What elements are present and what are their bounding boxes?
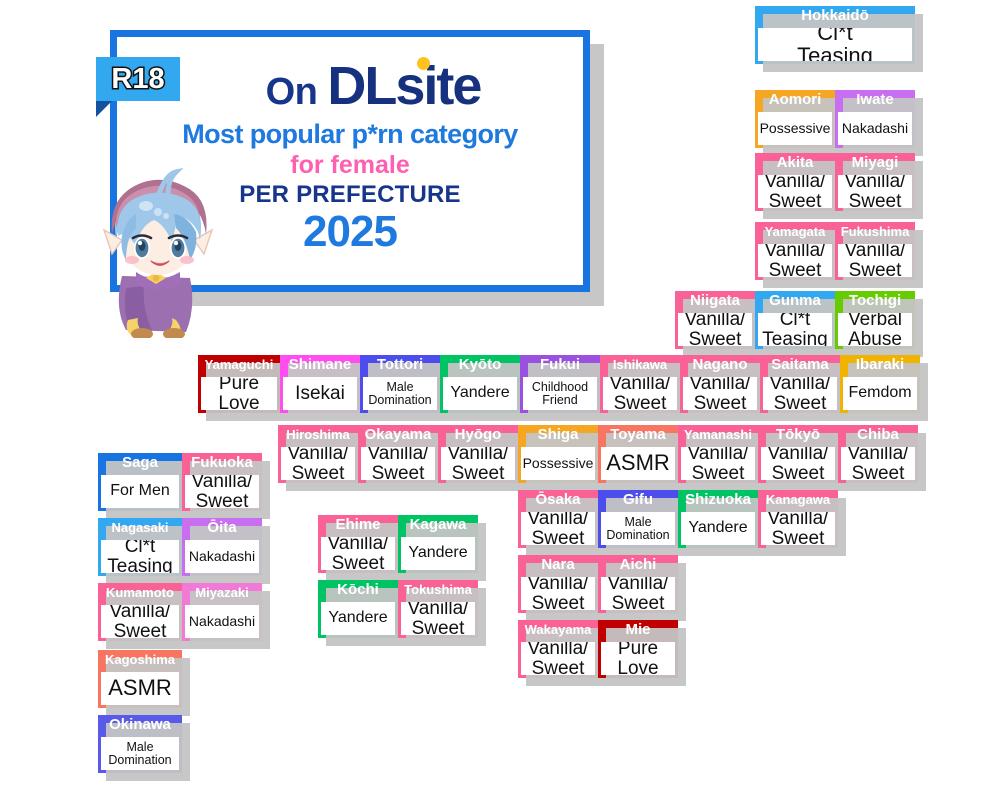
prefecture-name-label: Kagoshima: [98, 650, 182, 669]
prefecture-name-label: Fukuoka: [182, 453, 262, 472]
prefecture-name-label: Saitama: [760, 355, 840, 374]
prefecture-category-value: Cl*tTeasing: [758, 28, 912, 61]
prefecture-category-value: Possessive: [521, 447, 595, 480]
r18-badge: R18: [96, 57, 180, 101]
prefecture-box-aomori[interactable]: AomoriPossessive: [755, 90, 835, 148]
prefecture-name-label: Nara: [518, 555, 598, 574]
prefecture-name-label: Gunma: [755, 291, 835, 310]
prefecture-name-label: Niigata: [675, 291, 755, 310]
prefecture-name-label: Nagano: [680, 355, 760, 374]
prefecture-category-value: Vanilla/Sweet: [441, 447, 515, 480]
prefecture-name-label: Kumamoto: [98, 583, 182, 602]
prefecture-name-label: Tōkyō: [758, 425, 838, 444]
prefecture-name-label: Aomori: [755, 90, 835, 109]
prefecture-category-value: Isekai: [283, 377, 357, 410]
prefecture-name-label: Kanagawa: [758, 490, 838, 509]
prefecture-box-ita[interactable]: ŌitaNakadashi: [182, 518, 262, 576]
prefecture-category-value: Vanilla/Sweet: [758, 175, 832, 208]
prefecture-category-value: Vanilla/Sweet: [603, 377, 677, 410]
prefecture-box-saka[interactable]: ŌsakaVanilla/Sweet: [518, 490, 598, 548]
prefecture-box-nagasaki[interactable]: NagasakiCl*tTeasing: [98, 518, 182, 576]
prefecture-name-label: Fukui: [520, 355, 600, 374]
prefecture-name-label: Kyōto: [440, 355, 520, 374]
prefecture-category-value: Vanilla/Sweet: [681, 447, 755, 480]
prefecture-box-iwate[interactable]: IwateNakadashi: [835, 90, 915, 148]
prefecture-category-value: Vanilla/Sweet: [601, 577, 675, 610]
prefecture-name-label: Yamanashi: [678, 425, 758, 444]
prefecture-box-ibaraki[interactable]: IbarakiFemdom: [840, 355, 920, 413]
prefecture-category-value: Vanilla/Sweet: [361, 447, 435, 480]
prefecture-name-label: Toyama: [598, 425, 678, 444]
prefecture-box-yamanashi[interactable]: YamanashiVanilla/Sweet: [678, 425, 758, 483]
prefecture-box-nara[interactable]: NaraVanilla/Sweet: [518, 555, 598, 613]
prefecture-box-gunma[interactable]: GunmaCl*tTeasing: [755, 291, 835, 349]
prefecture-box-gifu[interactable]: GifuMaleDomination: [598, 490, 678, 548]
prefecture-name-label: Miyagi: [835, 153, 915, 172]
prefecture-box-niigata[interactable]: NiigataVanilla/Sweet: [675, 291, 755, 349]
brand-line: On DLsite: [266, 55, 481, 117]
prefecture-name-label: Ibaraki: [840, 355, 920, 374]
prefecture-box-hokkaid[interactable]: HokkaidōCl*tTeasing: [755, 6, 915, 64]
title-year: 2025: [303, 207, 397, 257]
title-subtitle-1: Most popular p*rn category: [182, 119, 517, 150]
prefecture-box-saga[interactable]: SagaFor Men: [98, 453, 182, 511]
prefecture-category-value: Vanilla/Sweet: [761, 447, 835, 480]
prefecture-name-label: Ōsaka: [518, 490, 598, 509]
prefecture-name-label: Aichi: [598, 555, 678, 574]
prefecture-name-label: Mie: [598, 620, 678, 639]
prefecture-box-hy-go[interactable]: HyōgoVanilla/Sweet: [438, 425, 518, 483]
prefecture-box-tokushima[interactable]: TokushimaVanilla/Sweet: [398, 580, 478, 638]
prefecture-category-value: Vanilla/Sweet: [521, 642, 595, 675]
prefecture-box-t-ky[interactable]: TōkyōVanilla/Sweet: [758, 425, 838, 483]
prefecture-box-toyama[interactable]: ToyamaASMR: [598, 425, 678, 483]
prefecture-box-miyazaki[interactable]: MiyazakiNakadashi: [182, 583, 262, 641]
prefecture-category-value: Vanilla/Sweet: [521, 577, 595, 610]
prefecture-name-label: Hiroshima: [278, 425, 358, 444]
prefecture-box-ky-to[interactable]: KyōtoYandere: [440, 355, 520, 413]
prefecture-box-okinawa[interactable]: OkinawaMaleDomination: [98, 715, 182, 773]
prefecture-name-label: Tochigi: [835, 291, 915, 310]
prefecture-box-fukushima[interactable]: FukushimaVanilla/Sweet: [835, 222, 915, 280]
prefecture-category-value: MaleDomination: [601, 512, 675, 545]
prefecture-name-label: Ehime: [318, 515, 398, 534]
prefecture-category-value: Vanilla/Sweet: [521, 512, 595, 545]
r18-badge-tail: [96, 101, 112, 117]
prefecture-category-value: MaleDomination: [101, 737, 179, 770]
prefecture-category-value: Vanilla/Sweet: [401, 602, 475, 635]
prefecture-name-label: Wakayama: [518, 620, 598, 639]
prefecture-name-label: Shizuoka: [678, 490, 758, 509]
prefecture-category-value: MaleDomination: [363, 377, 437, 410]
prefecture-category-value: ASMR: [601, 447, 675, 480]
prefecture-category-value: Pure Love: [601, 642, 675, 675]
prefecture-name-label: Iwate: [835, 90, 915, 109]
prefecture-category-value: Vanilla/Sweet: [761, 512, 835, 545]
r18-badge-label: R18: [111, 63, 164, 96]
prefecture-box-akita[interactable]: AkitaVanilla/Sweet: [755, 153, 835, 211]
brand-text: DLsite: [327, 56, 480, 116]
prefecture-category-value: Vanilla/Sweet: [678, 313, 752, 346]
prefecture-name-label: Akita: [755, 153, 835, 172]
prefecture-name-label: Kagawa: [398, 515, 478, 534]
prefecture-category-value: Cl*tTeasing: [758, 313, 832, 346]
prefecture-category-value: Possessive: [758, 112, 832, 145]
prefecture-box-shizuoka[interactable]: ShizuokaYandere: [678, 490, 758, 548]
prefecture-category-value: Yandere: [401, 537, 475, 570]
prefecture-box-aichi[interactable]: AichiVanilla/Sweet: [598, 555, 678, 613]
prefecture-category-value: Nakadashi: [838, 112, 912, 145]
prefecture-category-value: Femdom: [843, 377, 917, 410]
prefecture-name-label: Tokushima: [398, 580, 478, 599]
prefecture-category-value: Cl*tTeasing: [101, 540, 179, 573]
prefecture-category-value: Vanilla/Sweet: [185, 475, 259, 508]
prefecture-box-shiga[interactable]: ShigaPossessive: [518, 425, 598, 483]
prefecture-box-okayama[interactable]: OkayamaVanilla/Sweet: [358, 425, 438, 483]
prefecture-box-kumamoto[interactable]: KumamotoVanilla/Sweet: [98, 583, 182, 641]
prefecture-name-label: Tottori: [360, 355, 440, 374]
prefecture-category-value: For Men: [101, 475, 179, 508]
prefecture-category-value: Vanilla/Sweet: [838, 244, 912, 277]
prefecture-category-value: Vanilla/Sweet: [838, 175, 912, 208]
prefecture-category-value: Yandere: [321, 602, 395, 635]
prefecture-name-label: Ishikawa: [600, 355, 680, 374]
prefecture-box-wakayama[interactable]: WakayamaVanilla/Sweet: [518, 620, 598, 678]
prefecture-name-label: Gifu: [598, 490, 678, 509]
prefecture-box-k-chi[interactable]: KōchiYandere: [318, 580, 398, 638]
prefecture-category-value: Vanilla/Sweet: [683, 377, 757, 410]
prefecture-name-label: Fukushima: [835, 222, 915, 241]
prefecture-box-nagano[interactable]: NaganoVanilla/Sweet: [680, 355, 760, 413]
prefecture-box-tottori[interactable]: TottoriMaleDomination: [360, 355, 440, 413]
prefecture-box-fukui[interactable]: FukuiChildhoodFriend: [520, 355, 600, 413]
prefecture-name-label: Yamagata: [755, 222, 835, 241]
prefecture-category-value: Nakadashi: [185, 540, 259, 573]
prefecture-category-value: Yandere: [443, 377, 517, 410]
prefecture-box-hiroshima[interactable]: HiroshimaVanilla/Sweet: [278, 425, 358, 483]
prefecture-name-label: Ōita: [182, 518, 262, 537]
prefecture-name-label: Saga: [98, 453, 182, 472]
prefecture-box-shimane[interactable]: ShimaneIsekai: [280, 355, 360, 413]
title-on: On: [266, 71, 318, 114]
prefecture-name-label: Shiga: [518, 425, 598, 444]
prefecture-name-label: Kōchi: [318, 580, 398, 599]
prefecture-category-value: Nakadashi: [185, 605, 259, 638]
prefecture-name-label: Shimane: [280, 355, 360, 374]
prefecture-category-value: Vanilla/Sweet: [758, 244, 832, 277]
prefecture-category-value: Yandere: [681, 512, 755, 545]
title-subtitle-2: for female: [290, 151, 409, 180]
prefecture-name-label: Nagasaki: [98, 518, 182, 537]
prefecture-name-label: Hyōgo: [438, 425, 518, 444]
prefecture-name-label: Okayama: [358, 425, 438, 444]
prefecture-category-value: Pure Love: [201, 377, 277, 410]
prefecture-category-value: VerbalAbuse: [838, 313, 912, 346]
prefecture-box-chiba[interactable]: ChibaVanilla/Sweet: [838, 425, 918, 483]
prefecture-box-ishikawa[interactable]: IshikawaVanilla/Sweet: [600, 355, 680, 413]
prefecture-category-value: Vanilla/Sweet: [841, 447, 915, 480]
prefecture-name-label: Hokkaidō: [755, 6, 915, 25]
prefecture-box-ehime[interactable]: EhimeVanilla/Sweet: [318, 515, 398, 573]
prefecture-category-value: Vanilla/Sweet: [763, 377, 837, 410]
prefecture-box-fukuoka[interactable]: FukuokaVanilla/Sweet: [182, 453, 262, 511]
prefecture-category-value: ASMR: [101, 672, 179, 705]
prefecture-name-label: Chiba: [838, 425, 918, 444]
prefecture-box-mie[interactable]: MiePure Love: [598, 620, 678, 678]
prefecture-box-tochigi[interactable]: TochigiVerbalAbuse: [835, 291, 915, 349]
prefecture-box-kagoshima[interactable]: KagoshimaASMR: [98, 650, 182, 708]
prefecture-box-kagawa[interactable]: KagawaYandere: [398, 515, 478, 573]
prefecture-category-value: Vanilla/Sweet: [101, 605, 179, 638]
prefecture-category-value: ChildhoodFriend: [523, 377, 597, 410]
prefecture-name-label: Okinawa: [98, 715, 182, 734]
prefecture-name-label: Yamaguchi: [198, 355, 280, 374]
prefecture-category-value: Vanilla/Sweet: [281, 447, 355, 480]
prefecture-name-label: Miyazaki: [182, 583, 262, 602]
prefecture-box-kanagawa[interactable]: KanagawaVanilla/Sweet: [758, 490, 838, 548]
prefecture-box-yamaguchi[interactable]: YamaguchiPure Love: [198, 355, 280, 413]
title-brand: DLsite: [327, 55, 480, 117]
mascot-character: [92, 168, 227, 338]
prefecture-box-yamagata[interactable]: YamagataVanilla/Sweet: [755, 222, 835, 280]
prefecture-category-value: Vanilla/Sweet: [321, 537, 395, 570]
prefecture-box-miyagi[interactable]: MiyagiVanilla/Sweet: [835, 153, 915, 211]
title-subtitle-3: PER PREFECTURE: [239, 181, 461, 209]
prefecture-box-saitama[interactable]: SaitamaVanilla/Sweet: [760, 355, 840, 413]
